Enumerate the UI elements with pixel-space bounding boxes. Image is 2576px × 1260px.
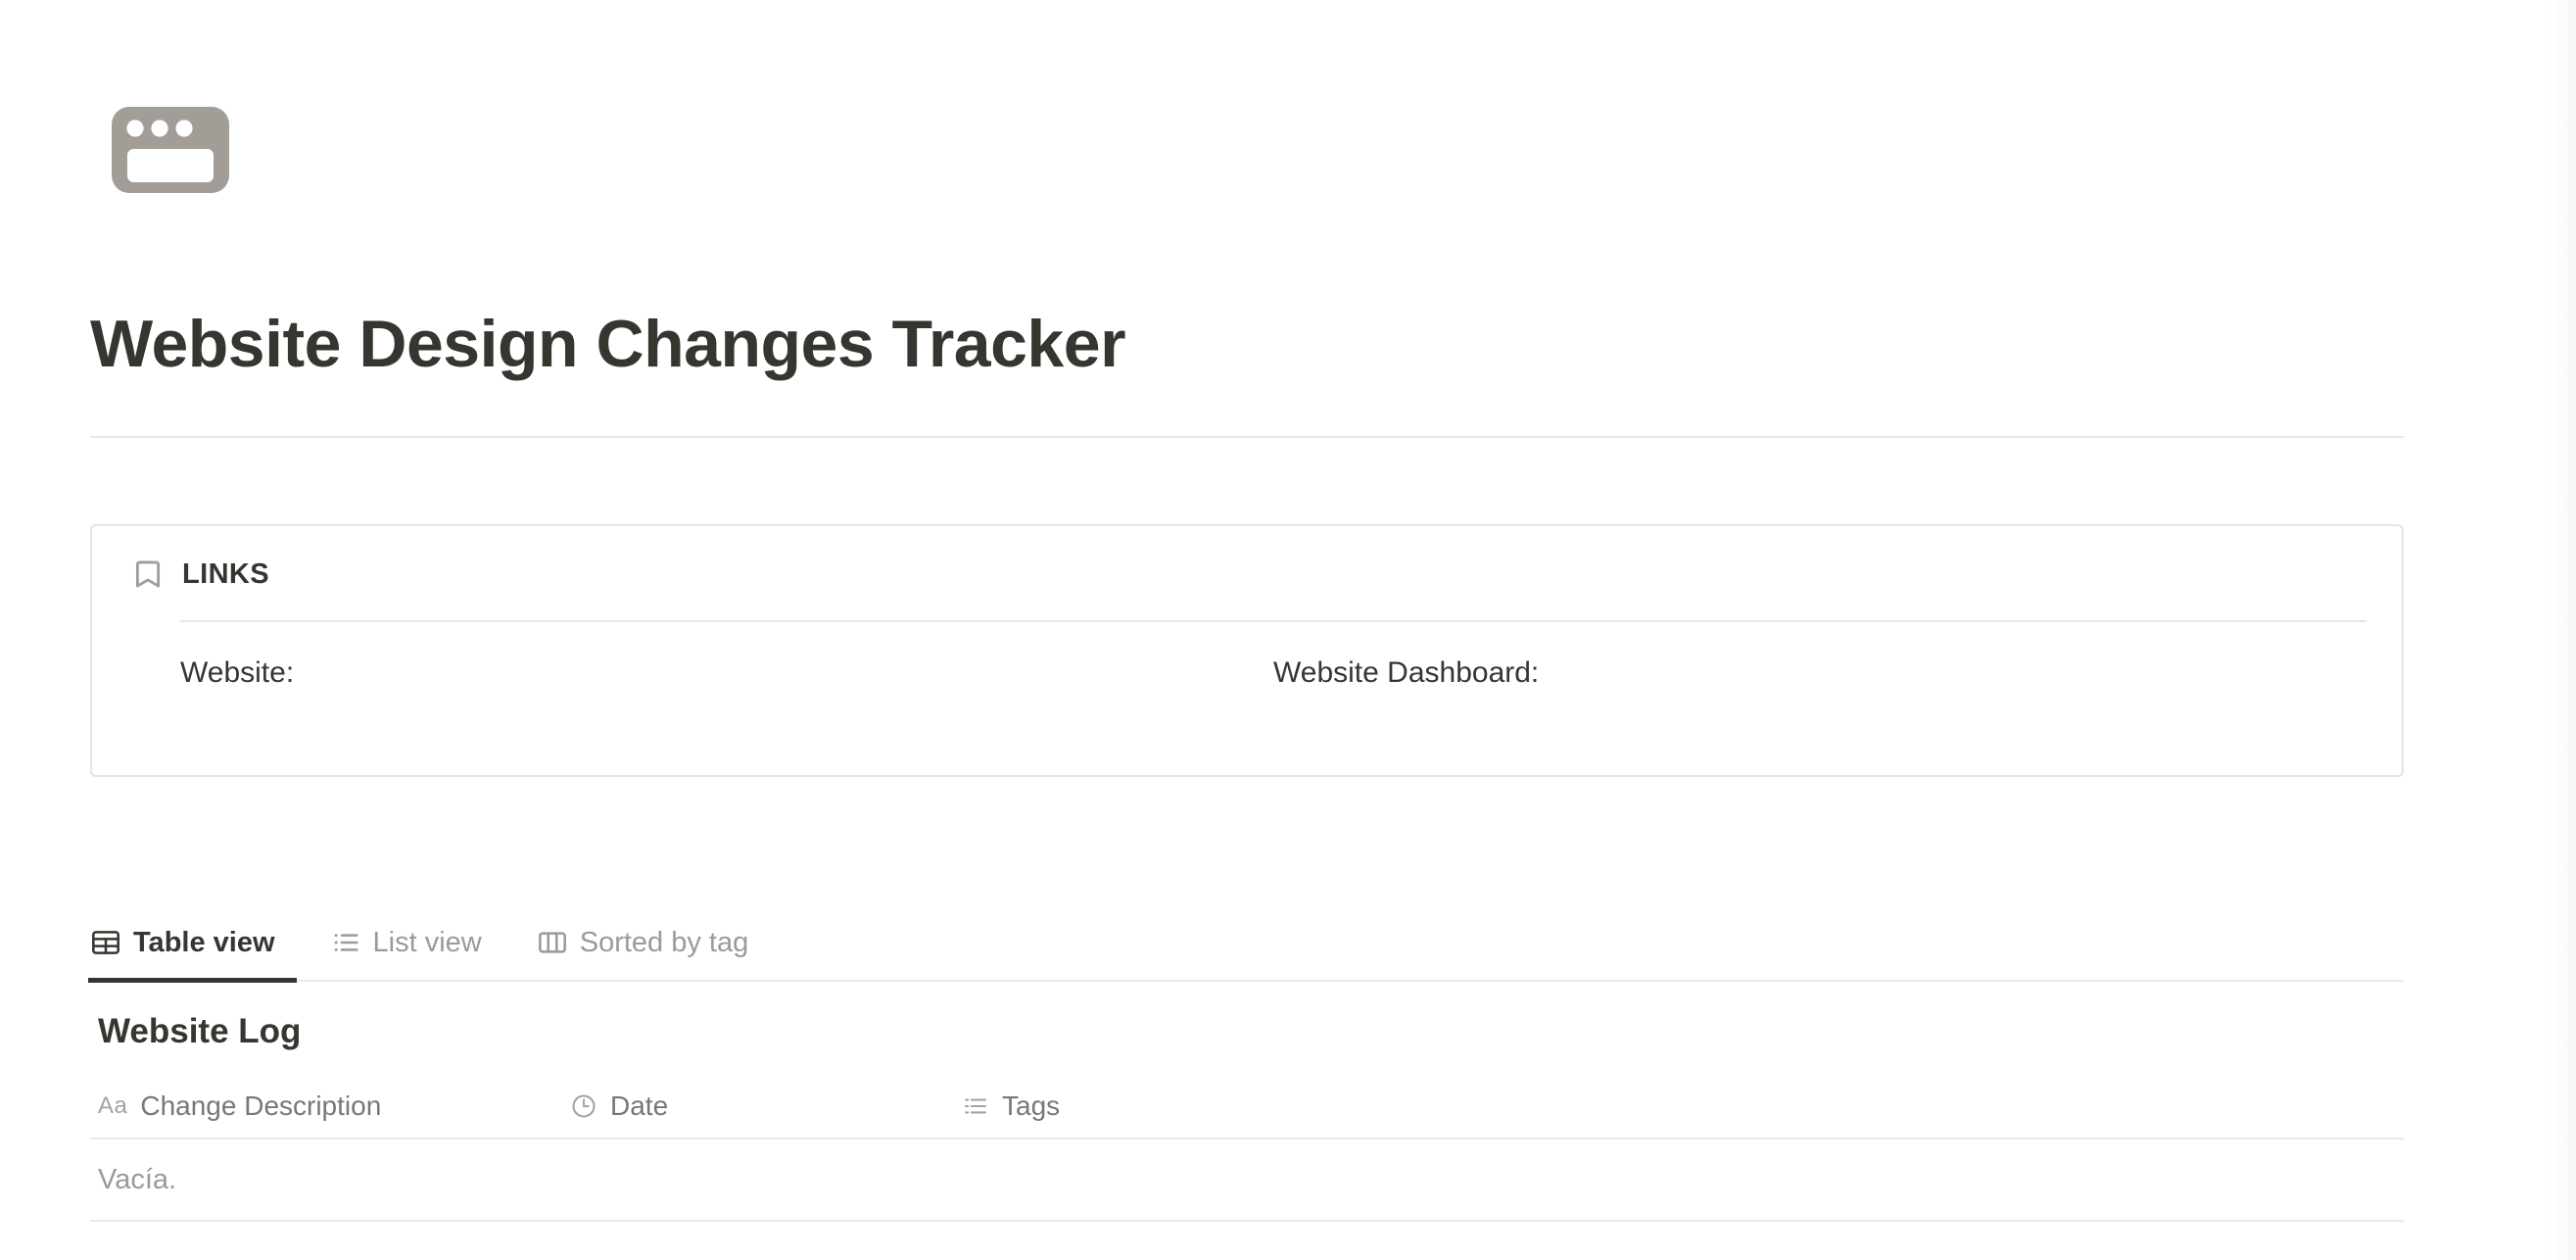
active-tab-underline (88, 978, 297, 983)
database-view-tabs: Table view List view (90, 926, 776, 977)
column-header-date[interactable]: Date (570, 1090, 962, 1123)
tab-sorted-by-tag[interactable]: Sorted by tag (509, 926, 777, 977)
column-header-tags[interactable]: Tags (962, 1090, 1354, 1123)
links-callout-header: LINKS (131, 557, 269, 591)
column-header-tags-label: Tags (1002, 1090, 1060, 1123)
tab-list-view[interactable]: List view (303, 926, 509, 977)
notion-page: Website Design Changes Tracker LINKS Web… (0, 0, 2576, 1260)
tabs-divider (90, 980, 2404, 982)
list-icon (330, 927, 361, 958)
tab-list-view-label: List view (373, 926, 482, 959)
multi-select-icon (962, 1092, 989, 1120)
database-title[interactable]: Website Log (98, 1010, 301, 1053)
page-scrollbar[interactable] (2549, 0, 2576, 1260)
tab-table-view-label: Table view (133, 926, 275, 959)
tab-sorted-by-tag-label: Sorted by tag (580, 926, 749, 959)
database-empty-text: Vacía. (98, 1163, 176, 1196)
website-link-label[interactable]: Website: (180, 654, 1273, 693)
database-row-divider (90, 1220, 2404, 1222)
website-dashboard-link-label[interactable]: Website Dashboard: (1273, 654, 2366, 693)
page-title[interactable]: Website Design Changes Tracker (90, 304, 1125, 384)
links-fields-row: Website: Website Dashboard: (180, 654, 2366, 693)
column-header-date-label: Date (610, 1090, 668, 1123)
links-callout-divider (180, 620, 2366, 622)
column-header-change-description[interactable]: Aa Change Description (90, 1090, 570, 1123)
links-callout-label: LINKS (182, 557, 269, 591)
clock-icon (570, 1092, 597, 1120)
database-header-row: Aa Change Description Date (90, 1076, 2404, 1137)
bookmark-icon (131, 557, 165, 591)
board-icon (537, 927, 568, 958)
table-icon (90, 927, 121, 958)
browser-window-icon[interactable] (108, 103, 233, 197)
column-header-change-description-label: Change Description (140, 1090, 381, 1123)
tab-table-view[interactable]: Table view (90, 926, 303, 977)
database-empty-row[interactable]: Vacía. (90, 1139, 2404, 1220)
title-divider (90, 436, 2404, 438)
text-aa-icon: Aa (98, 1092, 127, 1120)
links-callout-card: LINKS Website: Website Dashboard: (90, 524, 2404, 777)
